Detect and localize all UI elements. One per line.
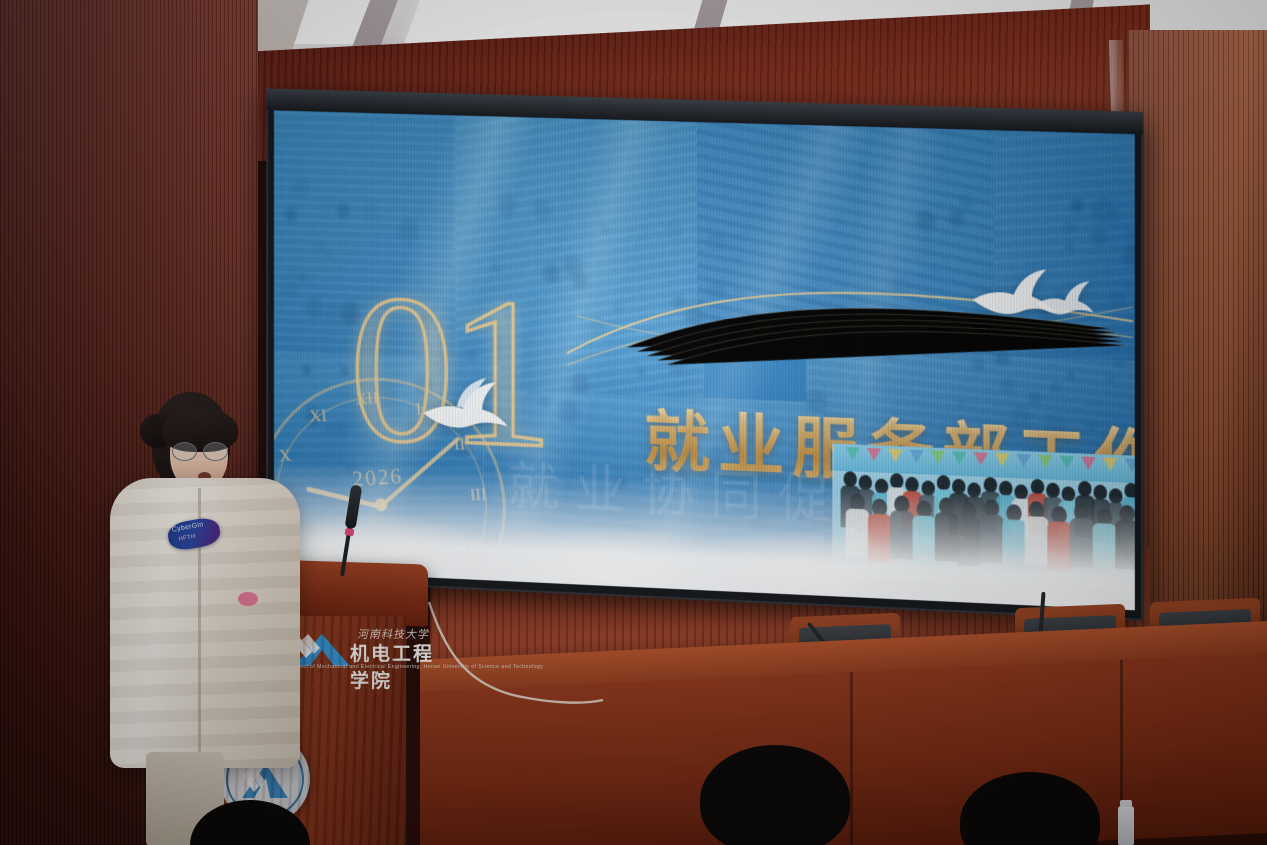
podium-english-name: School of Mechanical and Electrical Engi… [290,664,543,670]
microphone-indicator-ring [344,528,354,536]
jacket-pink-detail [238,592,258,606]
presenter-person: CyberGin HFTH [110,392,310,845]
podium-logo-block: 河南科技大学 机电工程学院 School of Mechanical and E… [290,624,440,670]
water-bottle [1118,806,1134,845]
badge-line-2: HFTH [178,534,196,543]
eyeglass-lens [172,442,197,461]
bottle-cap [1120,800,1132,807]
led-display-screen[interactable]: XIIIIIIIIIVVVIVIIVIIIIXXXI 2026 01 就 [266,88,1143,620]
table-seam [850,672,853,845]
audience-head [700,745,850,845]
eyeglass-lens [203,442,228,461]
slide-canvas: XIIIIIIIIIVVVIVIIVIIIIXXXI 2026 01 就 [274,110,1135,610]
presentation-scene: XIIIIIIIIIVVVIVIIVIIIIXXXI 2026 01 就 [0,0,1267,845]
microphone-cable [425,600,605,720]
badge-line-1: CyberGin [171,521,204,533]
eyeglasses-icon [172,442,228,460]
